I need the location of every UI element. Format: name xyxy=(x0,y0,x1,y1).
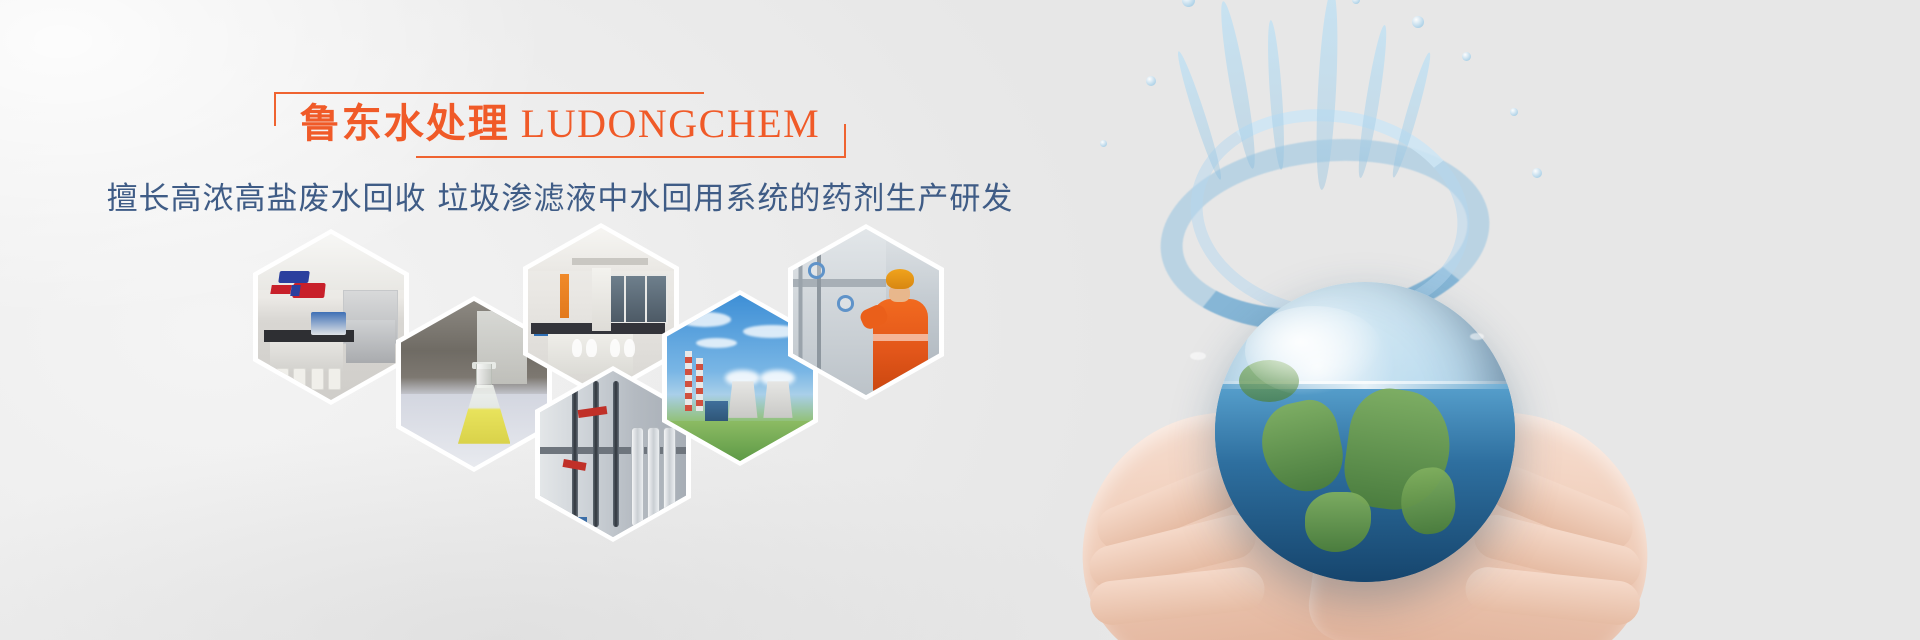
frame-line-top xyxy=(274,92,704,94)
wall-slogan-graphic xyxy=(271,271,337,308)
banner-subtitle: 擅长高浓高盐废水回收 垃圾渗滤液中水回用系统的药剂生产研发 xyxy=(0,178,1120,220)
page-title: 鲁东水处理 LUDONGCHEM xyxy=(300,98,820,150)
title-frame: 鲁东水处理 LUDONGCHEM xyxy=(274,92,846,158)
banner-text-block: 鲁东水处理 LUDONGCHEM 擅长高浓高盐废水回收 垃圾渗滤液中水回用系统的… xyxy=(0,92,1120,220)
title-english: LUDONGCHEM xyxy=(521,101,820,146)
cupped-hands xyxy=(1040,330,1680,640)
earth-globe xyxy=(1215,282,1515,582)
frame-line-bottom xyxy=(416,156,846,158)
frame-line-left xyxy=(274,92,276,126)
water-artwork xyxy=(1020,0,1920,640)
hero-banner: 鲁东水处理 LUDONGCHEM 擅长高浓高盐废水回收 垃圾渗滤液中水回用系统的… xyxy=(0,0,1920,640)
title-chinese: 鲁东水处理 xyxy=(300,101,510,147)
frame-line-right xyxy=(844,124,846,158)
hex-photo-laboratory-room xyxy=(253,229,409,405)
